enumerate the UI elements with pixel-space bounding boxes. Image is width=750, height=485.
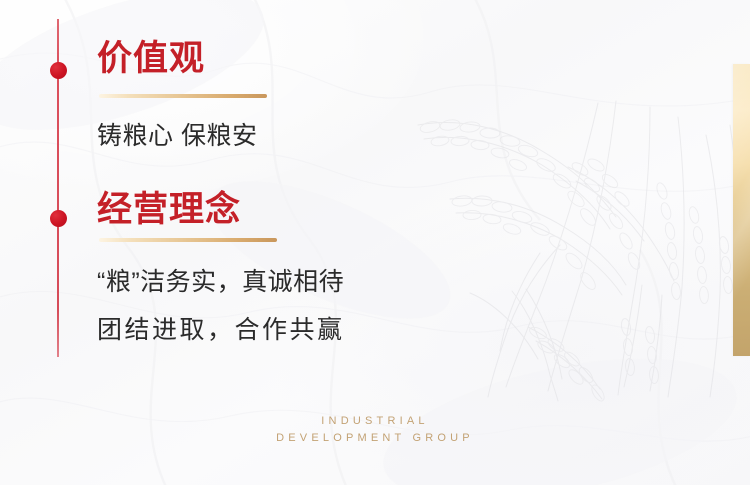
heading-values: 价值观 [97,41,205,76]
bullet-dot-values [50,62,67,79]
business-line-1: “粮”洁务实，真诚相待 [97,270,344,295]
values-line-1: 铸粮心 保粮安 [97,124,257,149]
heading-business-philosophy: 经营理念 [97,192,241,227]
business-line-2: 团结进取，合作共赢 [97,318,345,343]
slide-canvas: 价值观 铸粮心 保粮安 经营理念 “粮”洁务实，真诚相待 团结进取，合作共赢 I… [0,0,750,485]
gold-divider-business [99,238,277,242]
bullet-dot-business [50,210,67,227]
gold-vertical-bar [733,64,750,356]
content-column: 价值观 铸粮心 保粮安 经营理念 “粮”洁务实，真诚相待 团结进取，合作共赢 [97,0,517,485]
gold-divider-values [99,94,267,98]
